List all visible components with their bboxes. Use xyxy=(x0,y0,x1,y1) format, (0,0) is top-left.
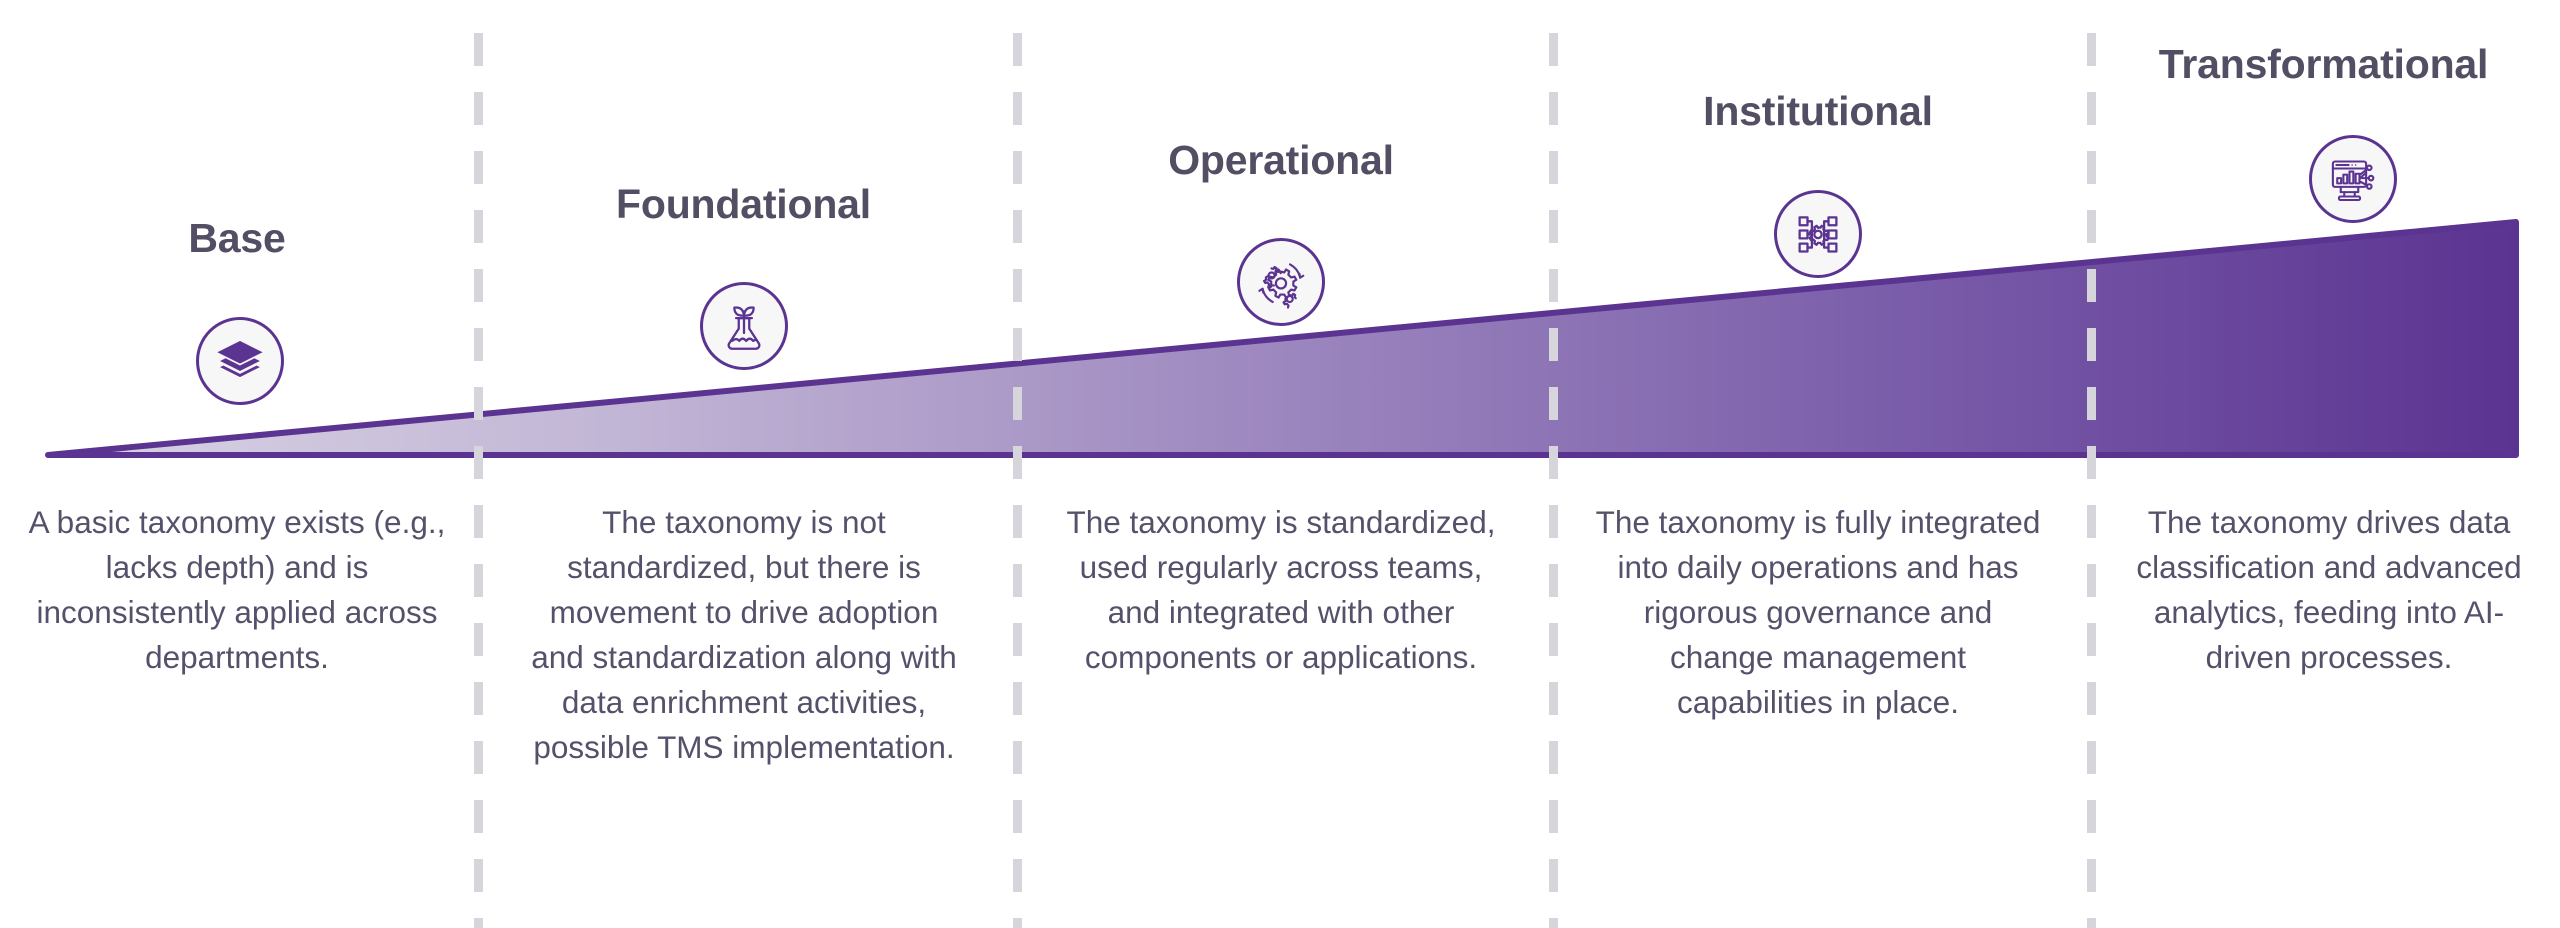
stage-description-base: A basic taxonomy exists (e.g., lacks dep… xyxy=(22,500,452,680)
stage-title-institutional: Institutional xyxy=(1549,88,2087,135)
maturity-diagram: Base A basic taxonomy exists (e.g., lack… xyxy=(0,0,2560,928)
stage-title-foundational: Foundational xyxy=(474,181,1013,228)
stage-divider-1 xyxy=(474,33,483,928)
flask-sprout-icon xyxy=(700,282,788,370)
stage-description-institutional: The taxonomy is fully integrated into da… xyxy=(1592,500,2044,725)
layers-icon xyxy=(196,317,284,405)
stage-divider-4 xyxy=(2087,33,2096,928)
stage-description-foundational: The taxonomy is not standardized, but th… xyxy=(520,500,968,770)
analytics-monitor-ai-icon xyxy=(2309,135,2397,223)
stage-title-operational: Operational xyxy=(1013,137,1549,184)
stage-divider-3 xyxy=(1549,33,1558,928)
stage-title-transformational: Transformational xyxy=(2087,41,2560,88)
gears-cycle-icon xyxy=(1237,238,1325,326)
stage-description-operational: The taxonomy is standardized, used regul… xyxy=(1055,500,1507,680)
network-gear-icon xyxy=(1774,190,1862,278)
stage-title-base: Base xyxy=(0,215,474,262)
stage-description-transformational: The taxonomy drives data classification … xyxy=(2130,500,2528,680)
